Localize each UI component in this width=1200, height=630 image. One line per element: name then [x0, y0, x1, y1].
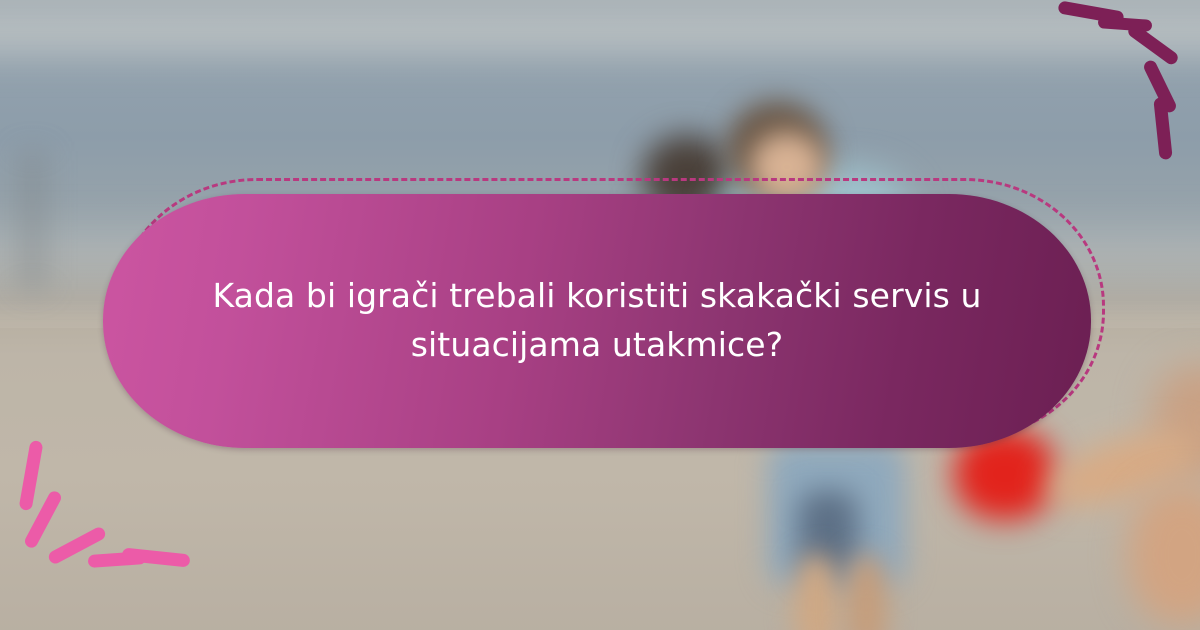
sparkle-burst-bottom-left [0, 455, 180, 630]
quote-card: Kada bi igrači trebali koristiti skakačk… [103, 186, 1097, 448]
page-title: Kada bi igrači trebali koristiti skakačk… [202, 272, 992, 370]
background-person-leg-right [846, 554, 887, 630]
background-net-pole [18, 151, 47, 290]
card-body: Kada bi igrači trebali koristiti skakačk… [103, 194, 1091, 448]
background-person-leg-left [794, 554, 837, 630]
sparkle-burst-top-right [1020, 0, 1200, 170]
social-card-canvas: Kada bi igrači trebali koristiti skakačk… [0, 0, 1200, 630]
